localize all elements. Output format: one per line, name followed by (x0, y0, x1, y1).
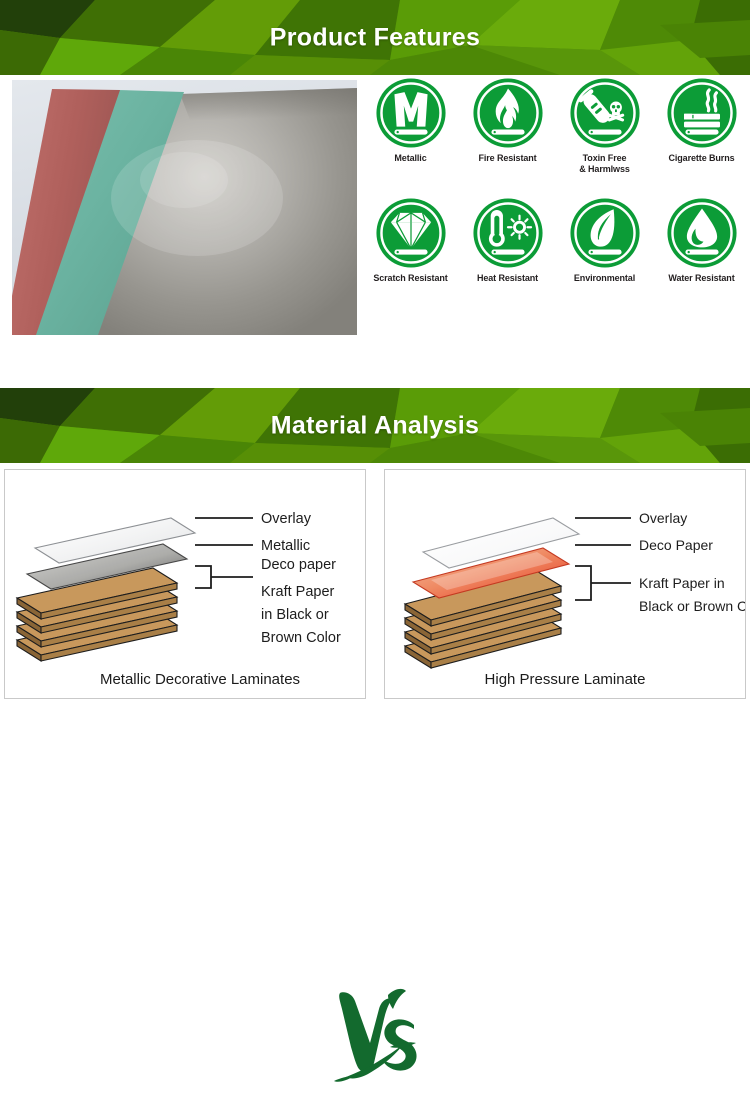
svg-text:in Black or: in Black or (261, 607, 329, 623)
leader-lines (195, 518, 253, 588)
leaf-icon (569, 197, 641, 269)
vs-badge (330, 981, 426, 1093)
thermometer-sun-icon (472, 197, 544, 269)
feature-item-fire-resistant[interactable]: Fire Resistant (459, 77, 556, 197)
feature-label: Fire Resistant (478, 153, 536, 164)
flame-icon (472, 77, 544, 149)
feature-item-metallic[interactable]: Metallic (362, 77, 459, 197)
svg-text:Kraft Paper: Kraft Paper (261, 584, 335, 600)
material-analysis-section: Overlay Metallic Deco paper Kraft Paper … (0, 463, 750, 710)
metallic-m-icon (375, 77, 447, 149)
feature-label: Cigarette Burns (668, 153, 734, 164)
feature-item-cigarette-burns[interactable]: Cigarette Burns (653, 77, 750, 197)
leader-labels: Overlay Metallic Deco paper Kraft Paper … (261, 511, 341, 646)
laminate-sheets-image (12, 80, 357, 335)
svg-text:Metallic: Metallic (261, 538, 310, 554)
svg-text:Overlay: Overlay (639, 510, 687, 526)
feature-item-environmental[interactable]: Environmental (556, 197, 653, 317)
svg-text:Brown Color: Brown Color (261, 630, 341, 646)
leader-labels: Overlay Deco Paper Kraft Paper in Black … (639, 510, 745, 614)
product-features-title: Product Features (0, 23, 750, 52)
material-analysis-title: Material Analysis (0, 411, 750, 440)
panel-caption: Metallic Decorative Laminates (5, 671, 365, 688)
feature-item-water-resistant[interactable]: Water Resistant (653, 197, 750, 317)
feature-label: Scratch Resistant (373, 273, 447, 284)
feature-label: Water Resistant (668, 273, 734, 284)
product-photo (12, 80, 357, 335)
svg-text:Deco paper: Deco paper (261, 557, 336, 573)
feature-item-heat-resistant[interactable]: Heat Resistant (459, 197, 556, 317)
diamond-icon (375, 197, 447, 269)
feature-label: Environmental (574, 273, 635, 284)
svg-text:Overlay: Overlay (261, 511, 312, 527)
panel-caption: High Pressure Laminate (385, 671, 745, 688)
water-drop-icon (666, 197, 738, 269)
feature-label: Metallic (394, 153, 426, 164)
test-tube-skull-icon (569, 77, 641, 149)
product-features-banner: Product Features (0, 0, 750, 75)
svg-text:Deco Paper: Deco Paper (639, 537, 713, 553)
panel-metallic-decorative-laminates[interactable]: Overlay Metallic Deco paper Kraft Paper … (4, 469, 366, 699)
svg-text:Kraft Paper in: Kraft Paper in (639, 575, 725, 591)
feature-item-toxin-free[interactable]: Toxin Free& Harmlwss (556, 77, 653, 197)
feature-label: Toxin Free& Harmlwss (579, 153, 630, 174)
cigarette-icon (666, 77, 738, 149)
metallic-laminate-layer-diagram: Overlay Metallic Deco paper Kraft Paper … (5, 470, 365, 698)
feature-icon-row-1: Metallic Fire Resistant (362, 77, 750, 197)
feature-label: Heat Resistant (477, 273, 538, 284)
panel-high-pressure-laminate[interactable]: Overlay Deco Paper Kraft Paper in Black … (384, 469, 746, 699)
material-analysis-banner: Material Analysis (0, 388, 750, 463)
feature-item-scratch-resistant[interactable]: Scratch Resistant (362, 197, 459, 317)
svg-text:Black or Brown Color: Black or Brown Color (639, 598, 745, 614)
section-gap (0, 340, 750, 388)
hpl-layer-diagram: Overlay Deco Paper Kraft Paper in Black … (385, 470, 745, 698)
vs-brush-icon (330, 981, 426, 1093)
leader-lines (575, 518, 631, 600)
feature-icon-grid: Metallic Fire Resistant (362, 75, 750, 340)
feature-icon-row-2: Scratch Resistant (362, 197, 750, 317)
product-features-section: Metallic Fire Resistant (0, 75, 750, 340)
